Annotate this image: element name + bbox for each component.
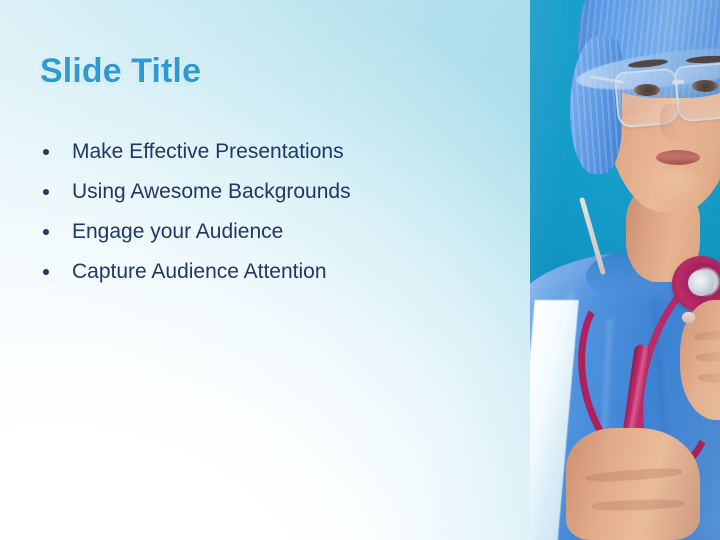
bullet-list: Make Effective Presentations Using Aweso…	[40, 132, 500, 292]
surgical-cap-side	[570, 36, 622, 174]
lips	[656, 150, 700, 165]
bullet-text: Using Awesome Backgrounds	[72, 180, 351, 203]
bullet-item: Capture Audience Attention	[40, 252, 500, 292]
hand-lower	[566, 428, 700, 540]
bullet-text: Engage your Audience	[72, 220, 283, 243]
nose	[660, 104, 682, 140]
bullet-item: Engage your Audience	[40, 212, 500, 252]
slide-title: Slide Title	[40, 52, 201, 91]
bullet-dot-icon	[43, 269, 49, 275]
bullet-dot-icon	[43, 189, 49, 195]
chin-highlight	[650, 170, 708, 204]
presentation-slide: Slide Title Make Effective Presentations…	[0, 0, 720, 540]
bullet-item: Make Effective Presentations	[40, 132, 500, 172]
surgeon-photo	[530, 0, 720, 540]
stethoscope-diaphragm	[688, 270, 714, 296]
bullet-item: Using Awesome Backgrounds	[40, 172, 500, 212]
bullet-dot-icon	[43, 229, 49, 235]
bullet-dot-icon	[43, 149, 49, 155]
bullet-text: Capture Audience Attention	[72, 260, 327, 283]
bullet-text: Make Effective Presentations	[72, 140, 344, 163]
fingernail	[682, 312, 695, 323]
